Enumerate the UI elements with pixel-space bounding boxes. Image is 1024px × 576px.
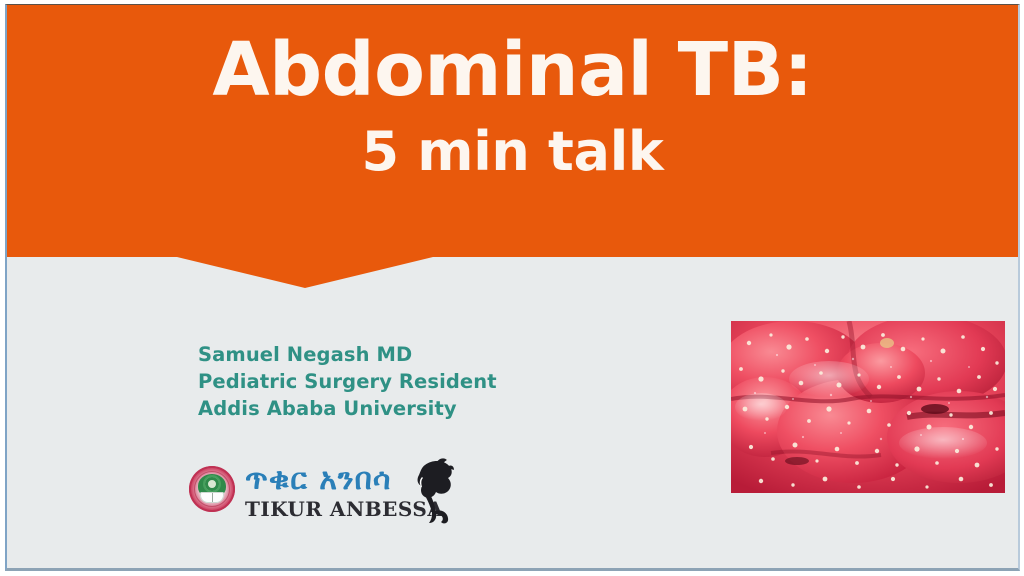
title-banner: Abdominal TB: 5 min talk: [7, 5, 1018, 257]
author-institution: Addis Ababa University: [198, 395, 497, 422]
clinical-photo: Intraoperative photograph of bowel seros…: [731, 321, 1005, 493]
logo-wordmark: ጥቁር አንበሳ TIKUR ANBESSA: [245, 461, 437, 527]
page-title: Abdominal TB:: [7, 5, 1018, 108]
page-subtitle: 5 min talk: [7, 108, 1018, 179]
slide-frame: Abdominal TB: 5 min talk Samuel Negash M…: [0, 0, 1024, 576]
institution-logo: ጥቁር አንበሳ TIKUR ANBESSA: [187, 461, 437, 527]
lion-icon: [395, 457, 455, 525]
slide-body: Samuel Negash MD Pediatric Surgery Resid…: [7, 257, 1018, 568]
author-name: Samuel Negash MD: [198, 341, 497, 368]
slide-canvas: Abdominal TB: 5 min talk Samuel Negash M…: [5, 4, 1020, 571]
wordmark-amharic: ጥቁር አንበሳ: [245, 461, 391, 499]
university-seal-icon: [189, 466, 235, 512]
author-block: Samuel Negash MD Pediatric Surgery Resid…: [198, 341, 497, 422]
seal-book-icon: [200, 492, 224, 503]
title-block: Abdominal TB: 5 min talk: [7, 5, 1018, 180]
author-role: Pediatric Surgery Resident: [198, 368, 497, 395]
seal-gear-icon: [205, 477, 219, 491]
bowel-tubercles-image: [731, 321, 1005, 493]
